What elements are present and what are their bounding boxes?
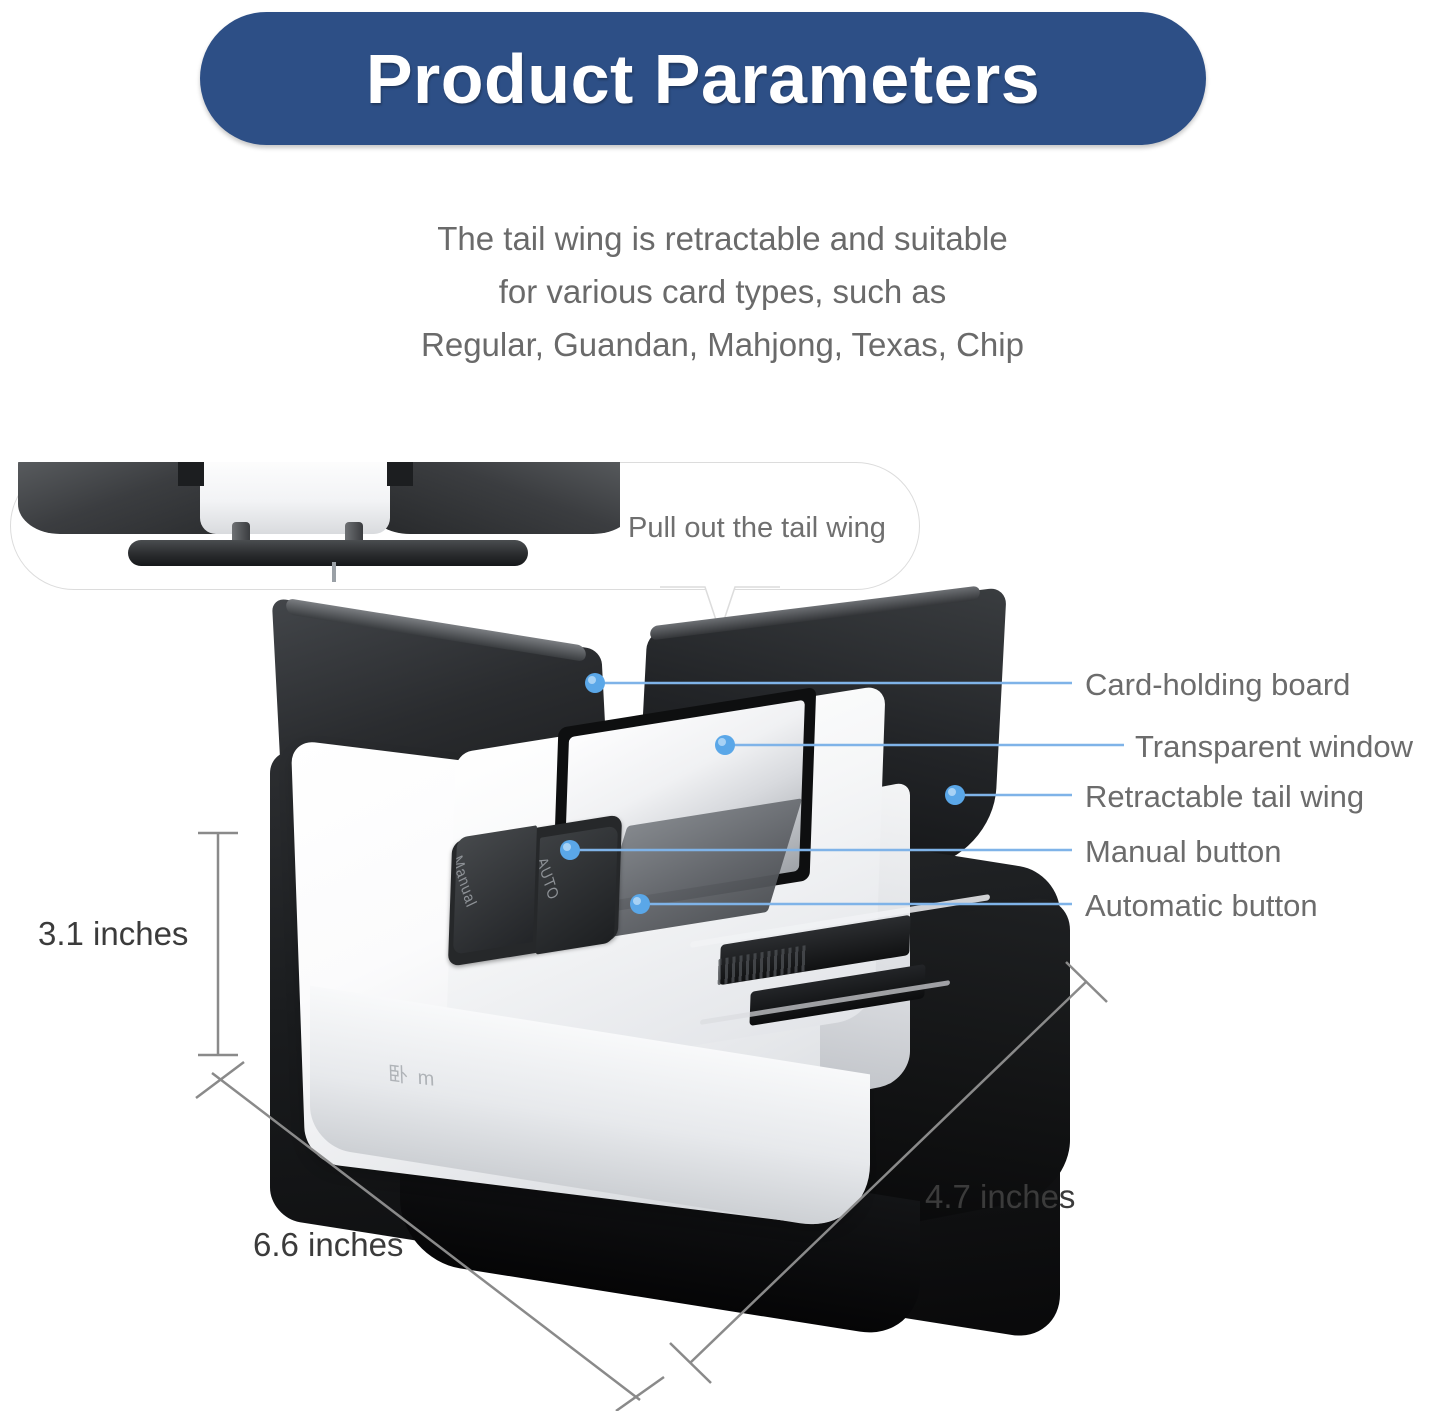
leader-dot bbox=[630, 894, 650, 914]
leader-lines bbox=[576, 683, 1124, 904]
feature-label: Automatic button bbox=[1085, 890, 1318, 921]
leader-dot bbox=[715, 735, 735, 755]
feature-label: Card-holding board bbox=[1085, 669, 1350, 700]
product-parameters-infographic: Product Parameters The tail wing is retr… bbox=[0, 0, 1445, 1411]
leader-dot-highlight bbox=[718, 738, 726, 746]
dimension-depth bbox=[670, 962, 1107, 1383]
leader-dots bbox=[560, 673, 965, 914]
dimension-depth-label: 4.7 inches bbox=[925, 1180, 1075, 1213]
leader-dot-highlight bbox=[633, 897, 641, 905]
dimension-height-label: 3.1 inches bbox=[38, 917, 188, 950]
leader-dot bbox=[560, 840, 580, 860]
feature-label: Retractable tail wing bbox=[1085, 781, 1364, 812]
leader-dot-highlight bbox=[588, 676, 596, 684]
annotation-overlay bbox=[0, 0, 1445, 1411]
leader-dot bbox=[945, 785, 965, 805]
feature-label: Manual button bbox=[1085, 836, 1281, 867]
leader-dot bbox=[585, 673, 605, 693]
leader-dot-highlight bbox=[563, 843, 571, 851]
dimension-width-label: 6.6 inches bbox=[253, 1228, 403, 1261]
feature-label: Transparent window bbox=[1135, 731, 1413, 762]
dimension-height bbox=[198, 833, 238, 1055]
leader-dot-highlight bbox=[948, 788, 956, 796]
